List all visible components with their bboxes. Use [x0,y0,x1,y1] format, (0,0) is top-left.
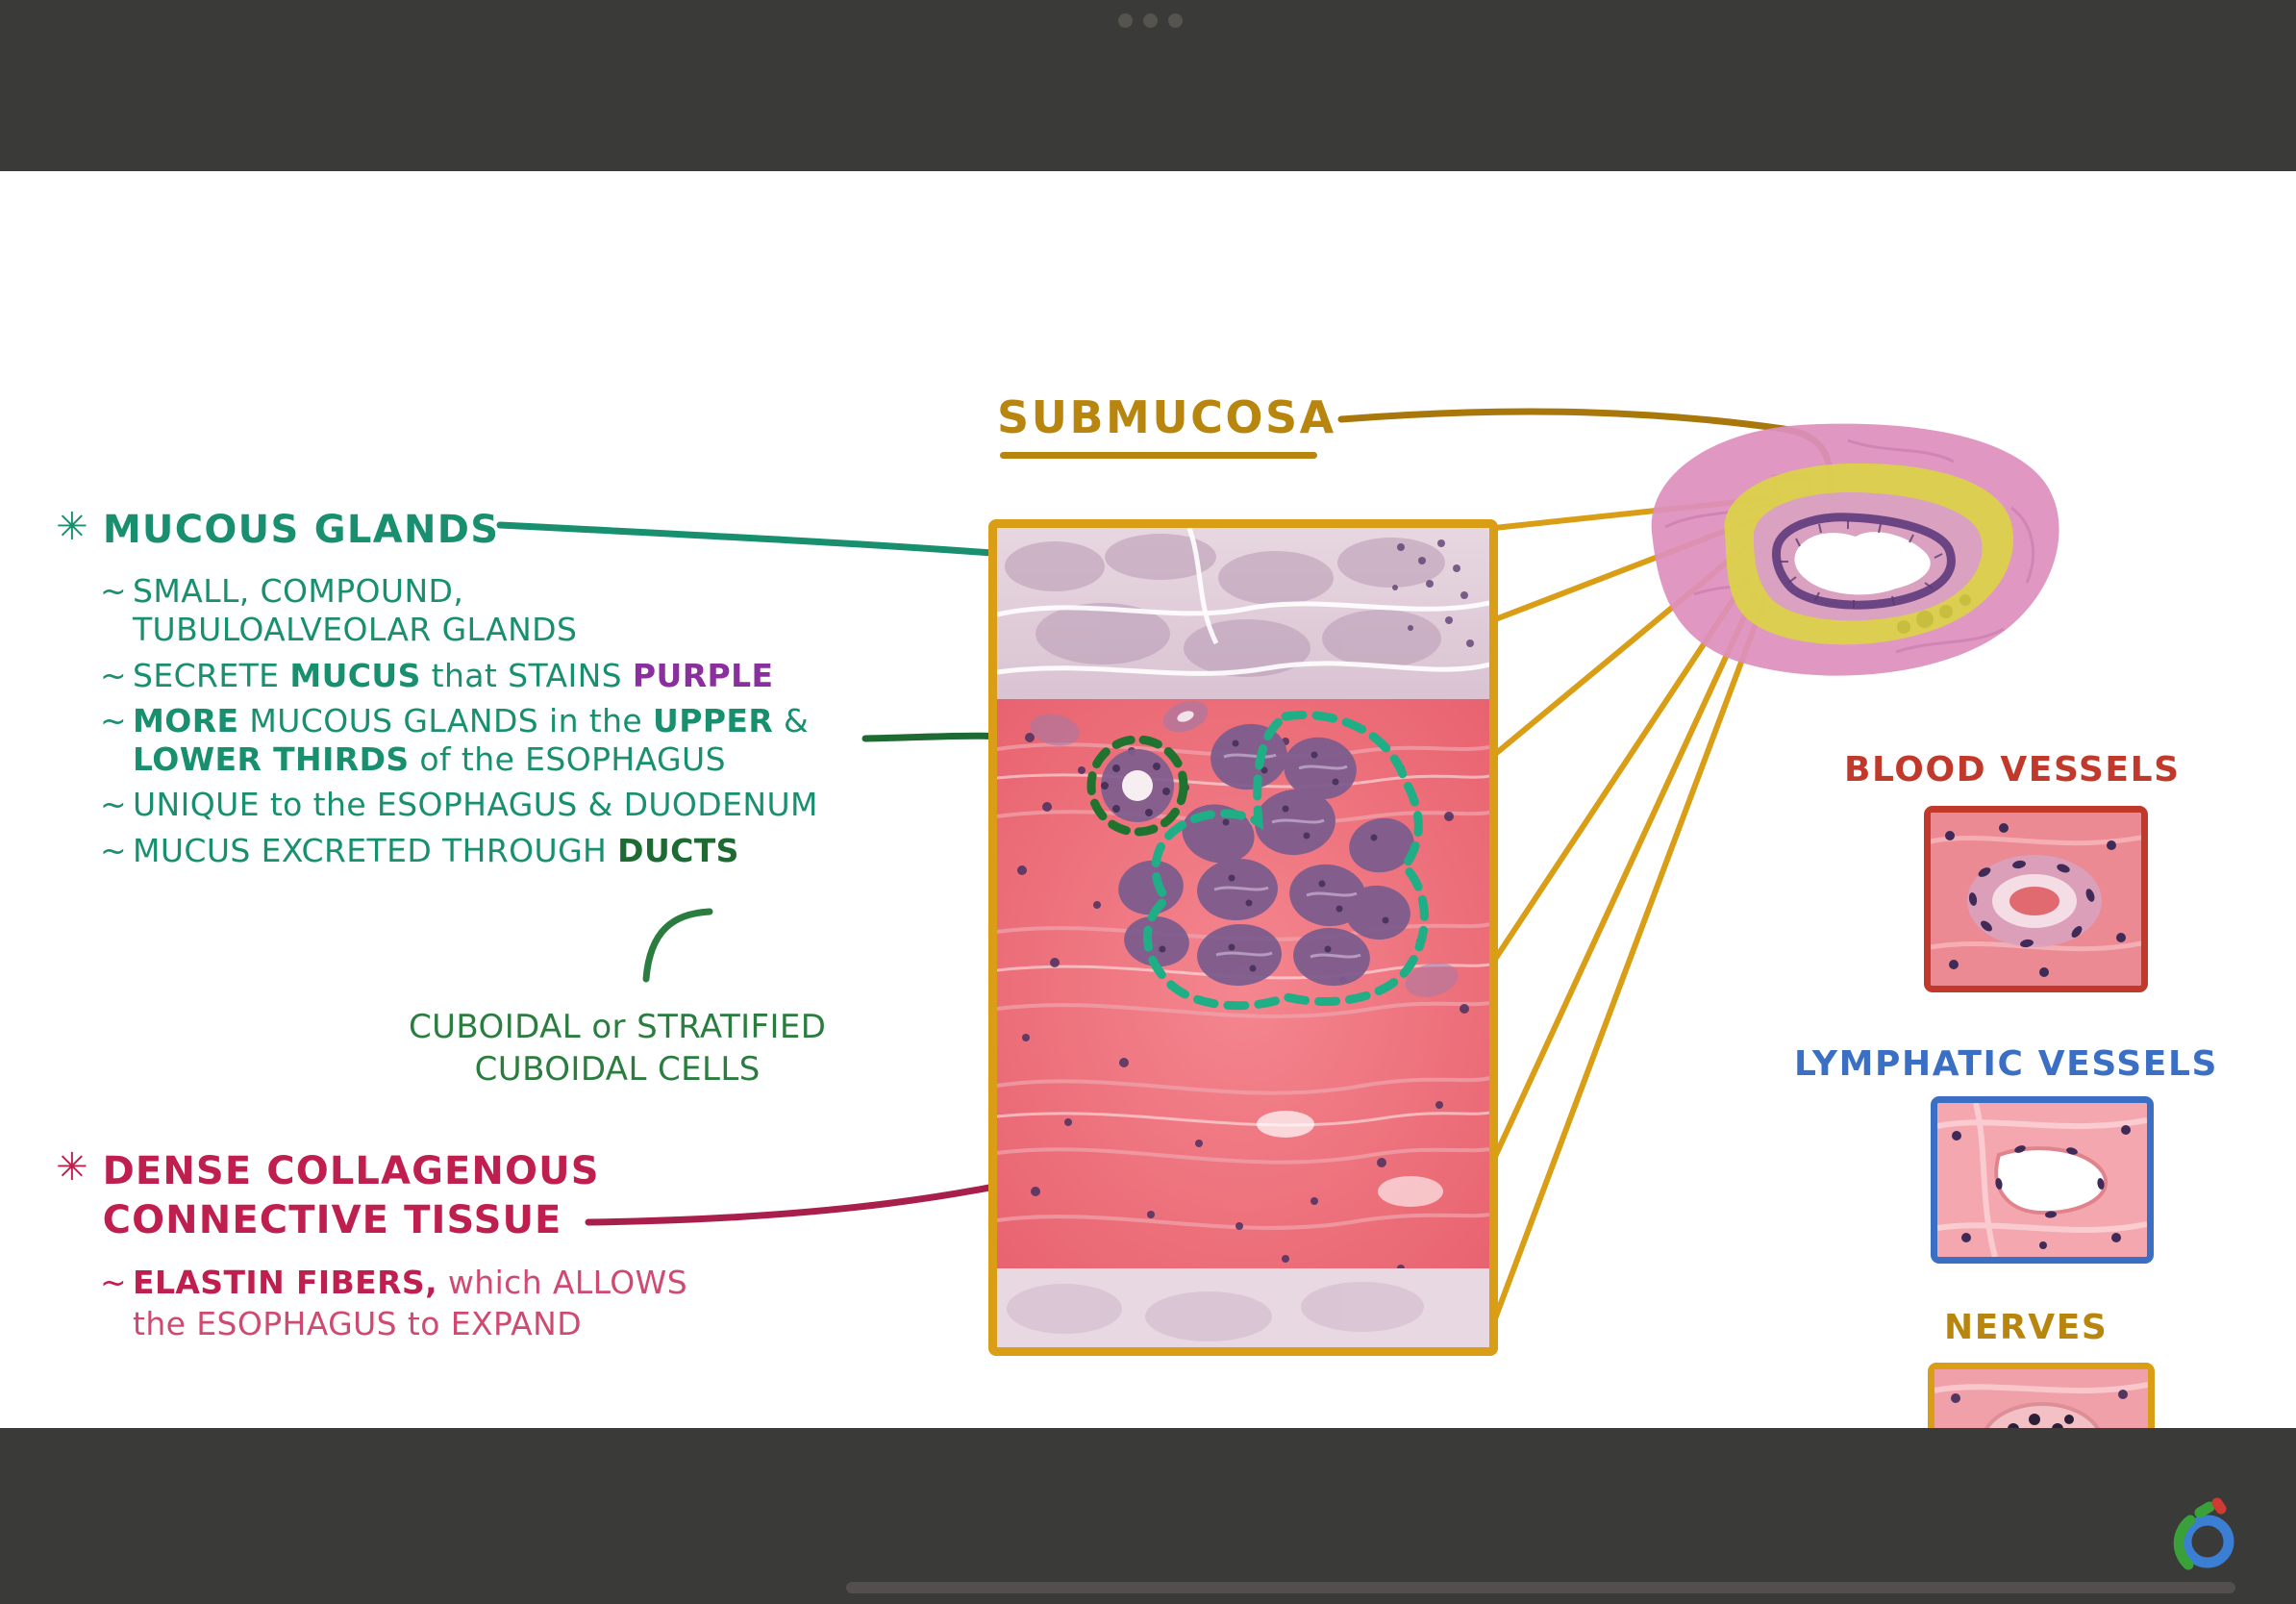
three-dots-icon[interactable] [1118,13,1183,28]
dense-connective-heading-line-2: CONNECTIVE TISSUE [103,1198,562,1242]
main-histology-figure [988,519,1498,1356]
dense-connective-bullet-list: ~ELASTIN FIBERS, which ALLOWSthe ESOPHAG… [100,1263,687,1345]
asterisk-icon: ✳ [56,509,89,545]
player-top-bar [0,0,2296,171]
mucous-glands-bullet-item-text: UNIQUE to the ESOPHAGUS & DUODENUM [133,786,818,824]
mucous-glands-bullet-run: SECRETE [133,657,289,694]
mucous-glands-bullet-item: ~SMALL, COMPOUND,TUBULOALVEOLAR GLANDS [100,572,818,650]
dense-connective-heading-line-1: DENSE COLLAGENOUS [103,1149,600,1193]
lymphatic-vessels-figure [1931,1096,2154,1264]
mucous-glands-bullet-run: TUBULOALVEOLAR GLANDS [133,611,577,648]
lymphatic-vessels-label: LYMPHATIC VESSELS [1794,1044,2218,1084]
bullet-marker: ~ [100,702,121,780]
duct-cell-note: CUBOIDAL or STRATIFIED CUBOIDAL CELLS [409,1006,826,1090]
mucous-glands-bullet-run: UPPER [653,702,773,739]
bullet-marker: ~ [100,657,121,695]
mucous-glands-heading: ✳ MUCOUS GLANDS [56,507,499,554]
player-bottom-bar [0,1428,2296,1604]
mucous-glands-bullet-item-text: MUCUS EXCRETED THROUGH DUCTS [133,832,739,870]
dense-connective-bullet-item-text: ELASTIN FIBERS, which ALLOWSthe ESOPHAGU… [133,1263,687,1345]
slide-canvas: SUBMUCOSA ✳ MUCOUS GLANDS ~SMALL, COMPOU… [0,171,2296,1428]
mucous-glands-bullet-item: ~MUCUS EXCRETED THROUGH DUCTS [100,832,818,870]
mucous-glands-heading-label: MUCOUS GLANDS [103,507,500,554]
mucous-glands-bullet-run: DUCTS [617,832,739,869]
mucous-glands-bullet-run: MUCUS EXCRETED THROUGH [133,832,617,869]
dense-connective-heading: ✳ DENSE COLLAGENOUS CONNECTIVE TISSUE [56,1147,600,1245]
mucous-glands-bullet-item: ~SECRETE MUCUS that STAINS PURPLE [100,657,818,695]
mucous-glands-bullet-item: ~UNIQUE to the ESOPHAGUS & DUODENUM [100,786,818,824]
page-title: SUBMUCOSA [997,390,1336,444]
osmosis-logo [2156,1493,2238,1576]
mucous-glands-bullet-item-text: SMALL, COMPOUND,TUBULOALVEOLAR GLANDS [133,572,577,650]
mucous-glands-bullet-run: MUCOUS GLANDS in the [238,702,653,739]
esophagus-cross-section-figure [1608,412,2079,690]
mucous-glands-bullet-run: PURPLE [633,657,774,694]
blood-vessel-micrograph [1931,813,2141,986]
esophagus-cross-section [1608,412,2079,690]
video-player-stage: SUBMUCOSA ✳ MUCOUS GLANDS ~SMALL, COMPOU… [0,0,2296,1604]
duct-cell-note-line-1: CUBOIDAL or STRATIFIED [409,1006,826,1048]
bullet-marker: ~ [100,832,121,870]
dense-connective-bullet-run: the ESOPHAGUS to EXPAND [133,1305,582,1342]
mucous-glands-bullet-run: MUCUS [289,657,420,694]
asterisk-icon: ✳ [56,1149,89,1186]
mucous-glands-bullet-list: ~SMALL, COMPOUND,TUBULOALVEOLAR GLANDS~S… [100,572,818,877]
mucous-glands-bullet-item: ~MORE MUCOUS GLANDS in the UPPER &LOWER … [100,702,818,780]
blood-vessels-figure [1924,806,2148,992]
mucous-glands-bullet-item-text: MORE MUCOUS GLANDS in the UPPER &LOWER T… [133,702,809,780]
mucous-glands-bullet-run: & [773,702,809,739]
dense-connective-bullet-item: ~ELASTIN FIBERS, which ALLOWSthe ESOPHAG… [100,1263,687,1345]
mucous-glands-bullet-item-text: SECRETE MUCUS that STAINS PURPLE [133,657,773,695]
duct-cell-note-line-2: CUBOIDAL CELLS [409,1048,826,1090]
dense-connective-bullet-run: which ALLOWS [437,1264,687,1301]
video-progress-bar[interactable] [846,1582,2235,1593]
mucous-glands-bullet-run: that STAINS [421,657,633,694]
nerves-label: NERVES [1944,1308,2108,1347]
bullet-marker: ~ [100,1263,121,1345]
bullet-marker: ~ [100,572,121,650]
mucous-glands-bullet-run: SMALL, COMPOUND, [133,572,463,610]
blood-vessels-label: BLOOD VESSELS [1844,750,2181,789]
dense-connective-bullet-run: ELASTIN FIBERS, [133,1264,437,1301]
bullet-marker: ~ [100,786,121,824]
mucous-glands-bullet-run: LOWER THIRDS [133,740,410,778]
mucous-glands-bullet-run: MORE [133,702,238,739]
lymphatic-vessel-micrograph [1937,1103,2147,1257]
submucosa-micrograph [997,528,1489,1347]
mucous-glands-bullet-run: UNIQUE to the ESOPHAGUS & DUODENUM [133,786,818,823]
mucous-glands-bullet-run: of the ESOPHAGUS [410,740,726,778]
title-underline [1000,452,1317,459]
